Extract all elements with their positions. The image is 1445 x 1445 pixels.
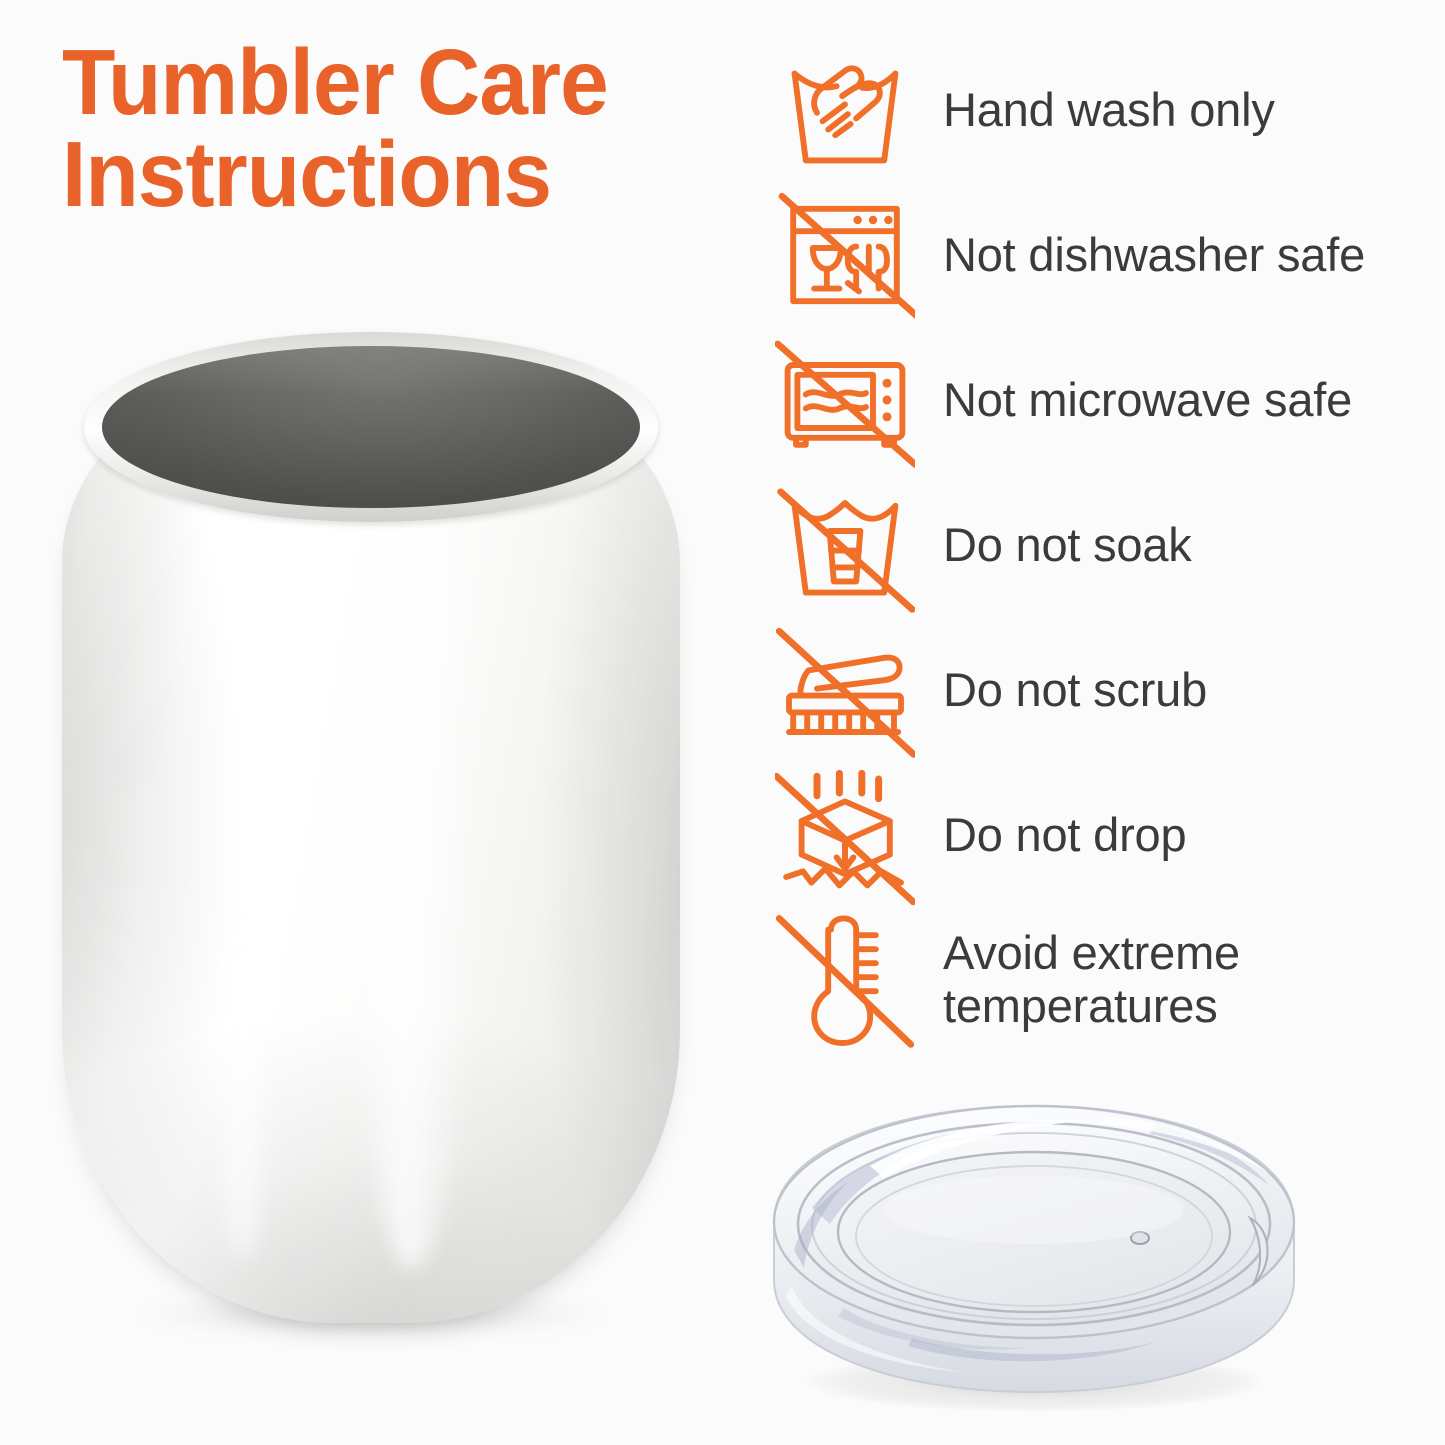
microwave-icon bbox=[775, 330, 915, 470]
hand-wash-basin-icon bbox=[775, 40, 915, 180]
tumbler-product-image bbox=[62, 318, 680, 1328]
tumbler-gloss-highlight bbox=[352, 468, 472, 1268]
care-item-label: Do not soak bbox=[943, 475, 1403, 615]
thermometer-icon bbox=[775, 910, 915, 1050]
care-item-scrub: Do not scrub bbox=[775, 620, 1415, 765]
lid-product-image bbox=[752, 1090, 1312, 1420]
care-item-microwave: Not microwave safe bbox=[775, 330, 1415, 475]
care-item-hand-wash: Hand wash only bbox=[775, 40, 1415, 185]
dishwasher-icon bbox=[775, 185, 915, 325]
scrub-brush-icon bbox=[775, 620, 915, 760]
care-item-soak: Do not soak bbox=[775, 475, 1415, 620]
soak-basin-icon bbox=[775, 475, 915, 615]
care-item-label: Not microwave safe bbox=[943, 330, 1403, 470]
page-title-line-2: Instructions bbox=[62, 128, 720, 220]
care-item-label: Not dishwasher safe bbox=[943, 185, 1403, 325]
falling-box-icon bbox=[775, 765, 915, 905]
care-item-label: Avoid extreme temperatures bbox=[943, 910, 1403, 1050]
care-item-drop: Do not drop bbox=[775, 765, 1415, 910]
page-title: Tumbler Care Instructions bbox=[62, 36, 720, 220]
care-item-dishwasher: Not dishwasher safe bbox=[775, 185, 1415, 330]
care-item-label: Do not drop bbox=[943, 765, 1403, 905]
care-item-label: Do not scrub bbox=[943, 620, 1403, 760]
care-instruction-list: Hand wash only bbox=[775, 40, 1415, 910]
tumbler-secondary-highlight bbox=[212, 788, 272, 1258]
tumbler-interior-highlight bbox=[102, 346, 640, 508]
care-item-label: Hand wash only bbox=[943, 40, 1403, 180]
page-title-line-1: Tumbler Care bbox=[62, 30, 608, 134]
infographic-canvas: Tumbler Care Instructions Hand wash only bbox=[0, 0, 1445, 1445]
